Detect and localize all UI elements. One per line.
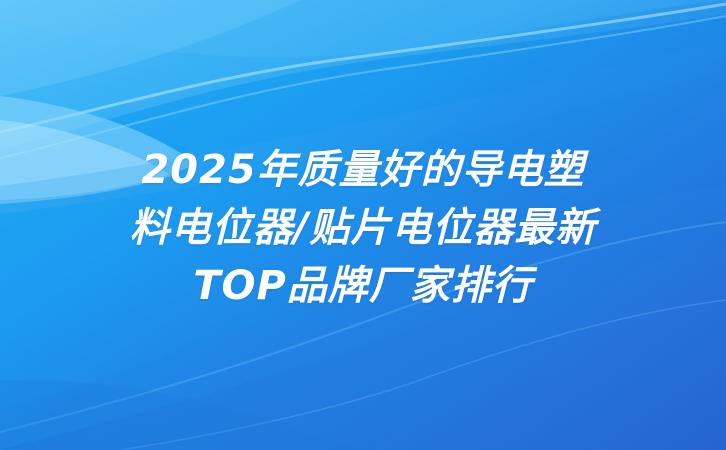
title-line-1: 2025年质量好的导电塑 [141, 141, 584, 199]
title-line-3: TOP品牌厂家排行 [193, 257, 533, 315]
title-line-2: 料电位器/贴片电位器最新 [130, 199, 597, 257]
promo-banner: 2025年质量好的导电塑 料电位器/贴片电位器最新 TOP品牌厂家排行 [0, 0, 726, 450]
banner-title: 2025年质量好的导电塑 料电位器/贴片电位器最新 TOP品牌厂家排行 [0, 0, 726, 450]
